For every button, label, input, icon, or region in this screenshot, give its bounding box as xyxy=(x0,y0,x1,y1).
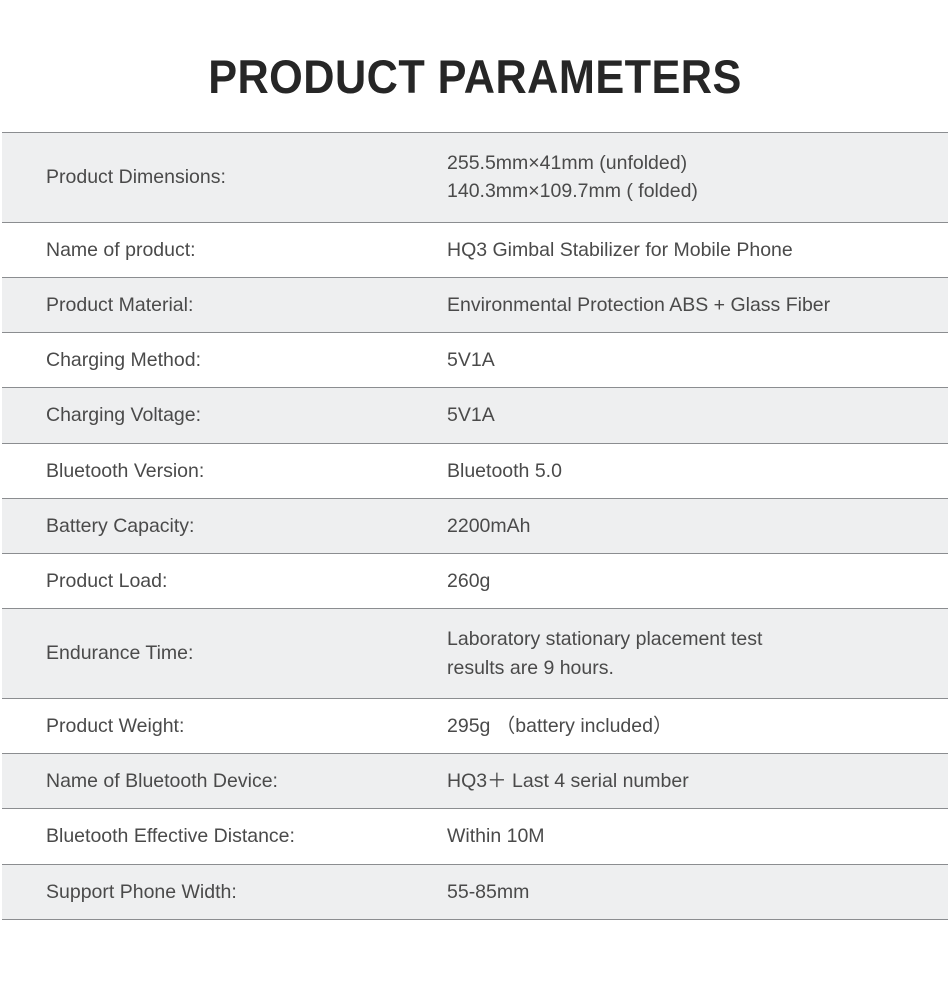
table-row: Product Dimensions:255.5mm×41mm (unfolde… xyxy=(2,132,948,222)
spec-value: Laboratory stationary placement test res… xyxy=(447,609,948,699)
spec-value: Within 10M xyxy=(447,809,948,864)
spec-label: Product Dimensions: xyxy=(2,132,447,222)
table-row: Name of Bluetooth Device:HQ3＋ Last 4 ser… xyxy=(2,754,948,809)
spec-label: Product Load: xyxy=(2,554,447,609)
table-row: Battery Capacity:2200mAh xyxy=(2,498,948,553)
table-row: Product Load:260g xyxy=(2,554,948,609)
table-row: Endurance Time:Laboratory stationary pla… xyxy=(2,609,948,699)
spec-value: 5V1A xyxy=(447,333,948,388)
spec-label: Name of product: xyxy=(2,222,447,277)
table-row: Support Phone Width: 55-85mm xyxy=(2,864,948,919)
product-parameters-page: PRODUCT PARAMETERS Product Dimensions:25… xyxy=(0,31,950,998)
spec-label: Product Weight: xyxy=(2,698,447,753)
spec-label: Charging Method: xyxy=(2,333,447,388)
spec-value: 295g （battery included） xyxy=(447,698,948,753)
specifications-table: Product Dimensions:255.5mm×41mm (unfolde… xyxy=(2,132,948,920)
spec-label: Battery Capacity: xyxy=(2,498,447,553)
table-row: Bluetooth Effective Distance:Within 10M xyxy=(2,809,948,864)
spec-value: 55-85mm xyxy=(447,864,948,919)
spec-label: Bluetooth Effective Distance: xyxy=(2,809,447,864)
table-row: Product Weight:295g （battery included） xyxy=(2,698,948,753)
spec-value: Bluetooth 5.0 xyxy=(447,443,948,498)
spec-value: HQ3 Gimbal Stabilizer for Mobile Phone xyxy=(447,222,948,277)
spec-label: Support Phone Width: xyxy=(2,864,447,919)
spec-label: Name of Bluetooth Device: xyxy=(2,754,447,809)
spec-value: 5V1A xyxy=(447,388,948,443)
spec-value: 260g xyxy=(447,554,948,609)
spec-value: 255.5mm×41mm (unfolded) 140.3mm×109.7mm … xyxy=(447,132,948,222)
bottom-whitespace xyxy=(0,920,950,998)
spec-label: Charging Voltage: xyxy=(2,388,447,443)
table-row: Name of product:HQ3 Gimbal Stabilizer fo… xyxy=(2,222,948,277)
spec-value: HQ3＋ Last 4 serial number xyxy=(447,754,948,809)
page-title: PRODUCT PARAMETERS xyxy=(38,31,912,100)
specifications-table-body: Product Dimensions:255.5mm×41mm (unfolde… xyxy=(2,132,948,919)
spec-label: Endurance Time: xyxy=(2,609,447,699)
spec-value: 2200mAh xyxy=(447,498,948,553)
table-row: Charging Voltage:5V1A xyxy=(2,388,948,443)
table-row: Product Material:Environmental Protectio… xyxy=(2,277,948,332)
spec-label: Bluetooth Version: xyxy=(2,443,447,498)
table-row: Bluetooth Version:Bluetooth 5.0 xyxy=(2,443,948,498)
table-row: Charging Method:5V1A xyxy=(2,333,948,388)
spec-label: Product Material: xyxy=(2,277,447,332)
spec-value: Environmental Protection ABS + Glass Fib… xyxy=(447,277,948,332)
